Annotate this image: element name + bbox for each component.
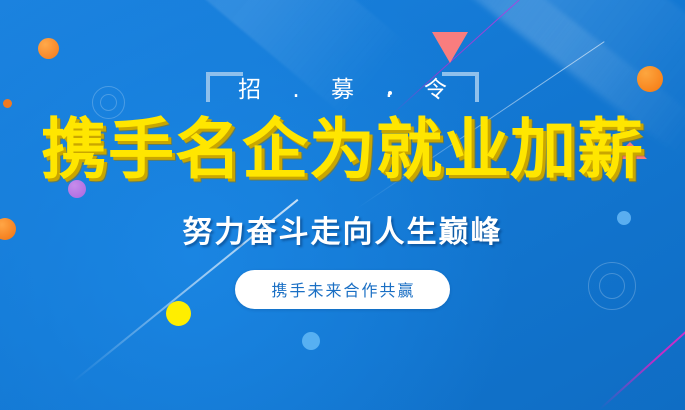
cta-button[interactable]: 携手未来合作共赢 (235, 270, 449, 309)
cta-container: 携手未来合作共赢 (0, 270, 685, 309)
recruitment-banner: 招 . 募 . 令 携手名企为就业加薪 努力奋斗走向人生巅峰 携手未来合作共赢 (0, 0, 685, 410)
eyebrow-text: 招 . 募 . 令 (0, 70, 685, 104)
subtitle-text: 努力奋斗走向人生巅峰 (0, 207, 685, 251)
page-title: 携手名企为就业加薪 (0, 117, 685, 183)
banner-content: 招 . 募 . 令 携手名企为就业加薪 努力奋斗走向人生巅峰 携手未来合作共赢 (0, 0, 685, 410)
